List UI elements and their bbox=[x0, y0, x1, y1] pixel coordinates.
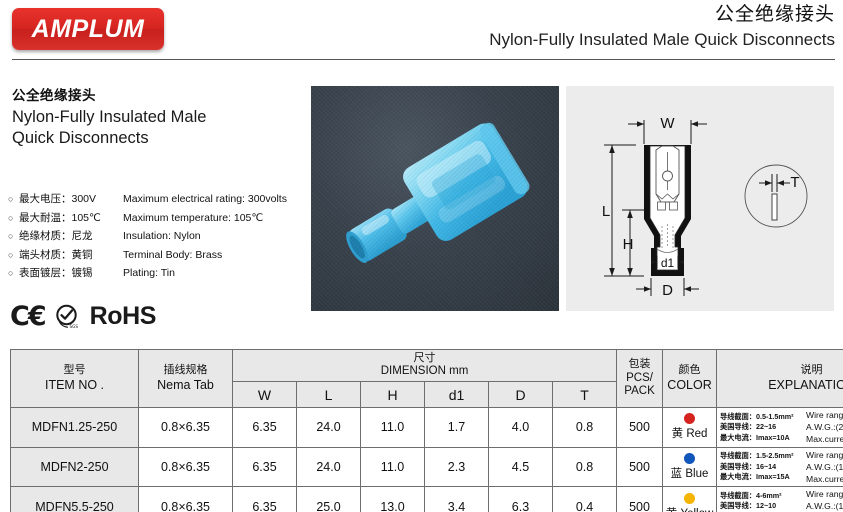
cell-w: 6.35 bbox=[233, 447, 297, 487]
spec-label-en: Maximum temperature: 105℃ bbox=[123, 212, 263, 224]
table-row: MDFN1.25-250 0.8×6.35 6.35 24.0 11.0 1.7… bbox=[11, 408, 843, 448]
header-title-cn: 公全绝缘接头 bbox=[489, 2, 835, 28]
expl-cn-line: 美国导线：12~10 bbox=[720, 501, 806, 511]
col-nema-cn: 插线规格 bbox=[139, 364, 232, 378]
color-dot-icon bbox=[684, 453, 695, 464]
col-color: 颜色 COLOR bbox=[663, 350, 717, 408]
spec-row: ○ 最大耐温：105℃ Maximum temperature: 105℃ bbox=[8, 210, 308, 225]
specification-list: ○ 最大电压：300V Maximum electrical rating: 3… bbox=[8, 191, 308, 284]
product-table: 型号 ITEM NO . 插线规格 Nema Tab 尺寸 DIMENSION … bbox=[10, 349, 843, 512]
specification-table: 型号 ITEM NO . 插线规格 Nema Tab 尺寸 DIMENSION … bbox=[10, 349, 835, 512]
spec-label-en: Terminal Body: Brass bbox=[123, 249, 222, 261]
product-title-cn: 公全绝缘接头 bbox=[12, 84, 302, 104]
col-nema-tab: 插线规格 Nema Tab bbox=[139, 350, 233, 408]
cell-h: 11.0 bbox=[361, 408, 425, 448]
col-dim-l: L bbox=[297, 382, 361, 408]
rohs-label: RoHS bbox=[90, 304, 156, 329]
col-dim-t: T bbox=[553, 382, 617, 408]
product-title-block: 公全绝缘接头 Nylon-Fully Insulated Male Quick … bbox=[12, 84, 302, 149]
col-expl-cn: 说明 bbox=[717, 364, 843, 378]
certification-marks: C€ SGS RoHS bbox=[10, 303, 156, 330]
bullet-icon: ○ bbox=[8, 232, 19, 241]
spec-row: ○ 最大电压：300V Maximum electrical rating: 3… bbox=[8, 191, 308, 206]
col-pack-cn: 包装 bbox=[617, 358, 662, 372]
header-title-en: Nylon-Fully Insulated Male Quick Disconn… bbox=[489, 28, 835, 52]
cell-l: 24.0 bbox=[297, 447, 361, 487]
expl-cn-line: 最大电流：Imax=10A bbox=[720, 433, 806, 443]
table-body: MDFN1.25-250 0.8×6.35 6.35 24.0 11.0 1.7… bbox=[11, 408, 843, 512]
expl-cn-line: 美国导线：22~16 bbox=[720, 422, 806, 432]
col-pack-en1: PCS/ bbox=[617, 372, 662, 386]
spec-label-cn: 端头材质：黄铜 bbox=[19, 247, 123, 262]
cell-t: 0.8 bbox=[553, 408, 617, 448]
cell-w: 6.35 bbox=[233, 408, 297, 448]
expl-en-line: Max.current=15A bbox=[806, 473, 843, 485]
technical-drawing: W L H d1 D T bbox=[566, 86, 834, 311]
connector-image bbox=[311, 86, 559, 311]
ce-icon: C€ bbox=[10, 303, 45, 330]
table-row: MDFN5.5-250 0.8×6.35 6.35 25.0 13.0 3.4 … bbox=[11, 487, 843, 512]
explanation-en: Wire range:0.5-1.5mm² A.W.G.:(22-16) Max… bbox=[806, 409, 843, 446]
cell-t: 0.8 bbox=[553, 447, 617, 487]
spec-row: ○ 表面镀层：镀锡 Plating: Tin bbox=[8, 265, 308, 280]
bullet-icon: ○ bbox=[8, 214, 19, 223]
expl-en-line: A.W.G.:(12-10) bbox=[806, 500, 843, 512]
header-divider bbox=[12, 59, 835, 60]
col-dim-d: D bbox=[489, 382, 553, 408]
col-dim-d1: d1 bbox=[425, 382, 489, 408]
product-title-en-2: Quick Disconnects bbox=[12, 128, 302, 149]
svg-text:SGS: SGS bbox=[69, 324, 78, 329]
cell-d1: 1.7 bbox=[425, 408, 489, 448]
expl-en-line: A.W.G.:(22-16) bbox=[806, 421, 843, 433]
color-label: 黄 Yellow bbox=[666, 508, 714, 512]
spec-label-en: Maximum electrical rating: 300volts bbox=[123, 193, 287, 205]
col-nema-en: Nema Tab bbox=[139, 378, 232, 394]
dim-label-w: W bbox=[660, 115, 675, 132]
spec-row: ○ 端头材质：黄铜 Terminal Body: Brass bbox=[8, 247, 308, 262]
expl-cn-line: 导线截面：4-6mm² bbox=[720, 491, 806, 501]
cell-pack: 500 bbox=[617, 447, 663, 487]
explanation-cn: 导线截面：1.5-2.5mm² 美国导线：16~14 最大电流：Imax=15A bbox=[720, 451, 806, 482]
col-dim-w: W bbox=[233, 382, 297, 408]
cell-h: 11.0 bbox=[361, 447, 425, 487]
cell-color: 黄 Yellow bbox=[663, 487, 717, 512]
datasheet-page: AMPLUM 公全绝缘接头 Nylon-Fully Insulated Male… bbox=[0, 0, 843, 512]
col-dimension-cn: 尺寸 bbox=[233, 352, 616, 366]
cell-d: 4.0 bbox=[489, 408, 553, 448]
cell-nema-tab: 0.8×6.35 bbox=[139, 408, 233, 448]
cell-d: 4.5 bbox=[489, 447, 553, 487]
bullet-icon: ○ bbox=[8, 195, 19, 204]
spec-row: ○ 绝缘材质：尼龙 Insulation: Nylon bbox=[8, 228, 308, 243]
col-pack: 包装 PCS/ PACK bbox=[617, 350, 663, 408]
col-item-no-cn: 型号 bbox=[11, 364, 138, 378]
cell-l: 25.0 bbox=[297, 487, 361, 512]
bullet-icon: ○ bbox=[8, 269, 19, 278]
explanation-en: Wire range:1.5-2.5mm² A.W.G.:(16-14) Max… bbox=[806, 449, 843, 486]
header-titles: 公全绝缘接头 Nylon-Fully Insulated Male Quick … bbox=[489, 2, 835, 51]
sgs-icon: SGS bbox=[54, 303, 81, 330]
expl-cn-line: 导线截面：1.5-2.5mm² bbox=[720, 451, 806, 461]
cell-item-no: MDFN5.5-250 bbox=[11, 487, 139, 512]
dim-label-l: L bbox=[602, 203, 610, 220]
spec-label-cn: 表面镀层：镀锡 bbox=[19, 265, 123, 280]
col-dim-h: H bbox=[361, 382, 425, 408]
explanation-en: Wire range:4-6mm² A.W.G.:(12-10) Max.cur… bbox=[806, 488, 843, 512]
content-middle: 公全绝缘接头 Nylon-Fully Insulated Male Quick … bbox=[0, 66, 843, 331]
brand-logo-text: AMPLUM bbox=[32, 15, 145, 44]
explanation-cn: 导线截面：0.5-1.5mm² 美国导线：22~16 最大电流：Imax=10A bbox=[720, 412, 806, 443]
dim-label-d: D bbox=[662, 282, 673, 299]
expl-cn-line: 导线截面：0.5-1.5mm² bbox=[720, 412, 806, 422]
product-photo bbox=[311, 86, 559, 311]
spec-label-cn: 最大电压：300V bbox=[19, 191, 123, 206]
color-label: 蓝 Blue bbox=[671, 468, 709, 480]
col-pack-en2: PACK bbox=[617, 385, 662, 399]
product-title-en-1: Nylon-Fully Insulated Male bbox=[12, 107, 302, 128]
explanation-cn: 导线截面：4-6mm² 美国导线：12~10 最大电流：Imax=24A bbox=[720, 491, 806, 512]
bullet-icon: ○ bbox=[8, 251, 19, 260]
cell-pack: 500 bbox=[617, 487, 663, 512]
cell-h: 13.0 bbox=[361, 487, 425, 512]
col-color-cn: 颜色 bbox=[663, 364, 716, 378]
cell-color: 黄 Red bbox=[663, 408, 717, 448]
expl-en-line: A.W.G.:(16-14) bbox=[806, 461, 843, 473]
dim-label-h: H bbox=[623, 236, 634, 253]
spec-label-cn: 绝缘材质：尼龙 bbox=[19, 228, 123, 243]
cell-pack: 500 bbox=[617, 408, 663, 448]
cell-d1: 2.3 bbox=[425, 447, 489, 487]
spec-label-cn: 最大耐温：105℃ bbox=[19, 210, 123, 225]
table-head: 型号 ITEM NO . 插线规格 Nema Tab 尺寸 DIMENSION … bbox=[11, 350, 843, 408]
dimension-diagram: W L H d1 D T bbox=[566, 86, 834, 311]
cell-d1: 3.4 bbox=[425, 487, 489, 512]
cell-t: 0.4 bbox=[553, 487, 617, 512]
cell-nema-tab: 0.8×6.35 bbox=[139, 447, 233, 487]
expl-en-line: Wire range:4-6mm² bbox=[806, 488, 843, 500]
col-explanation: 说明 EXPLANATION bbox=[717, 350, 843, 408]
color-dot-icon bbox=[684, 493, 695, 504]
expl-en-line: Wire range:1.5-2.5mm² bbox=[806, 449, 843, 461]
dim-label-d1: d1 bbox=[661, 256, 675, 270]
color-dot-icon bbox=[684, 413, 695, 424]
expl-en-line: Wire range:0.5-1.5mm² bbox=[806, 409, 843, 421]
cell-explanation: 导线截面：1.5-2.5mm² 美国导线：16~14 最大电流：Imax=15A… bbox=[717, 447, 843, 487]
spec-label-en: Plating: Tin bbox=[123, 267, 175, 279]
cell-d: 6.3 bbox=[489, 487, 553, 512]
cell-nema-tab: 0.8×6.35 bbox=[139, 487, 233, 512]
table-row: MDFN2-250 0.8×6.35 6.35 24.0 11.0 2.3 4.… bbox=[11, 447, 843, 487]
col-color-en: COLOR bbox=[663, 378, 716, 394]
col-dimension-en: DIMENSION mm bbox=[233, 365, 616, 379]
cell-w: 6.35 bbox=[233, 487, 297, 512]
dim-label-t: T bbox=[790, 174, 799, 191]
cell-explanation: 导线截面：0.5-1.5mm² 美国导线：22~16 最大电流：Imax=10A… bbox=[717, 408, 843, 448]
cell-item-no: MDFN2-250 bbox=[11, 447, 139, 487]
col-dimension-group: 尺寸 DIMENSION mm bbox=[233, 350, 617, 382]
brand-logo: AMPLUM bbox=[12, 8, 164, 50]
expl-cn-line: 美国导线：16~14 bbox=[720, 462, 806, 472]
col-expl-en: EXPLANATION bbox=[717, 378, 843, 394]
page-header: AMPLUM 公全绝缘接头 Nylon-Fully Insulated Male… bbox=[0, 0, 843, 60]
col-item-no: 型号 ITEM NO . bbox=[11, 350, 139, 408]
cell-item-no: MDFN1.25-250 bbox=[11, 408, 139, 448]
spec-label-en: Insulation: Nylon bbox=[123, 230, 201, 242]
cell-explanation: 导线截面：4-6mm² 美国导线：12~10 最大电流：Imax=24A Wir… bbox=[717, 487, 843, 512]
cell-l: 24.0 bbox=[297, 408, 361, 448]
table-header-row-1: 型号 ITEM NO . 插线规格 Nema Tab 尺寸 DIMENSION … bbox=[11, 350, 843, 382]
expl-cn-line: 最大电流：Imax=15A bbox=[720, 472, 806, 482]
color-label: 黄 Red bbox=[672, 428, 708, 440]
expl-en-line: Max.current=10A bbox=[806, 433, 843, 445]
cell-color: 蓝 Blue bbox=[663, 447, 717, 487]
col-item-no-en: ITEM NO . bbox=[11, 378, 138, 394]
